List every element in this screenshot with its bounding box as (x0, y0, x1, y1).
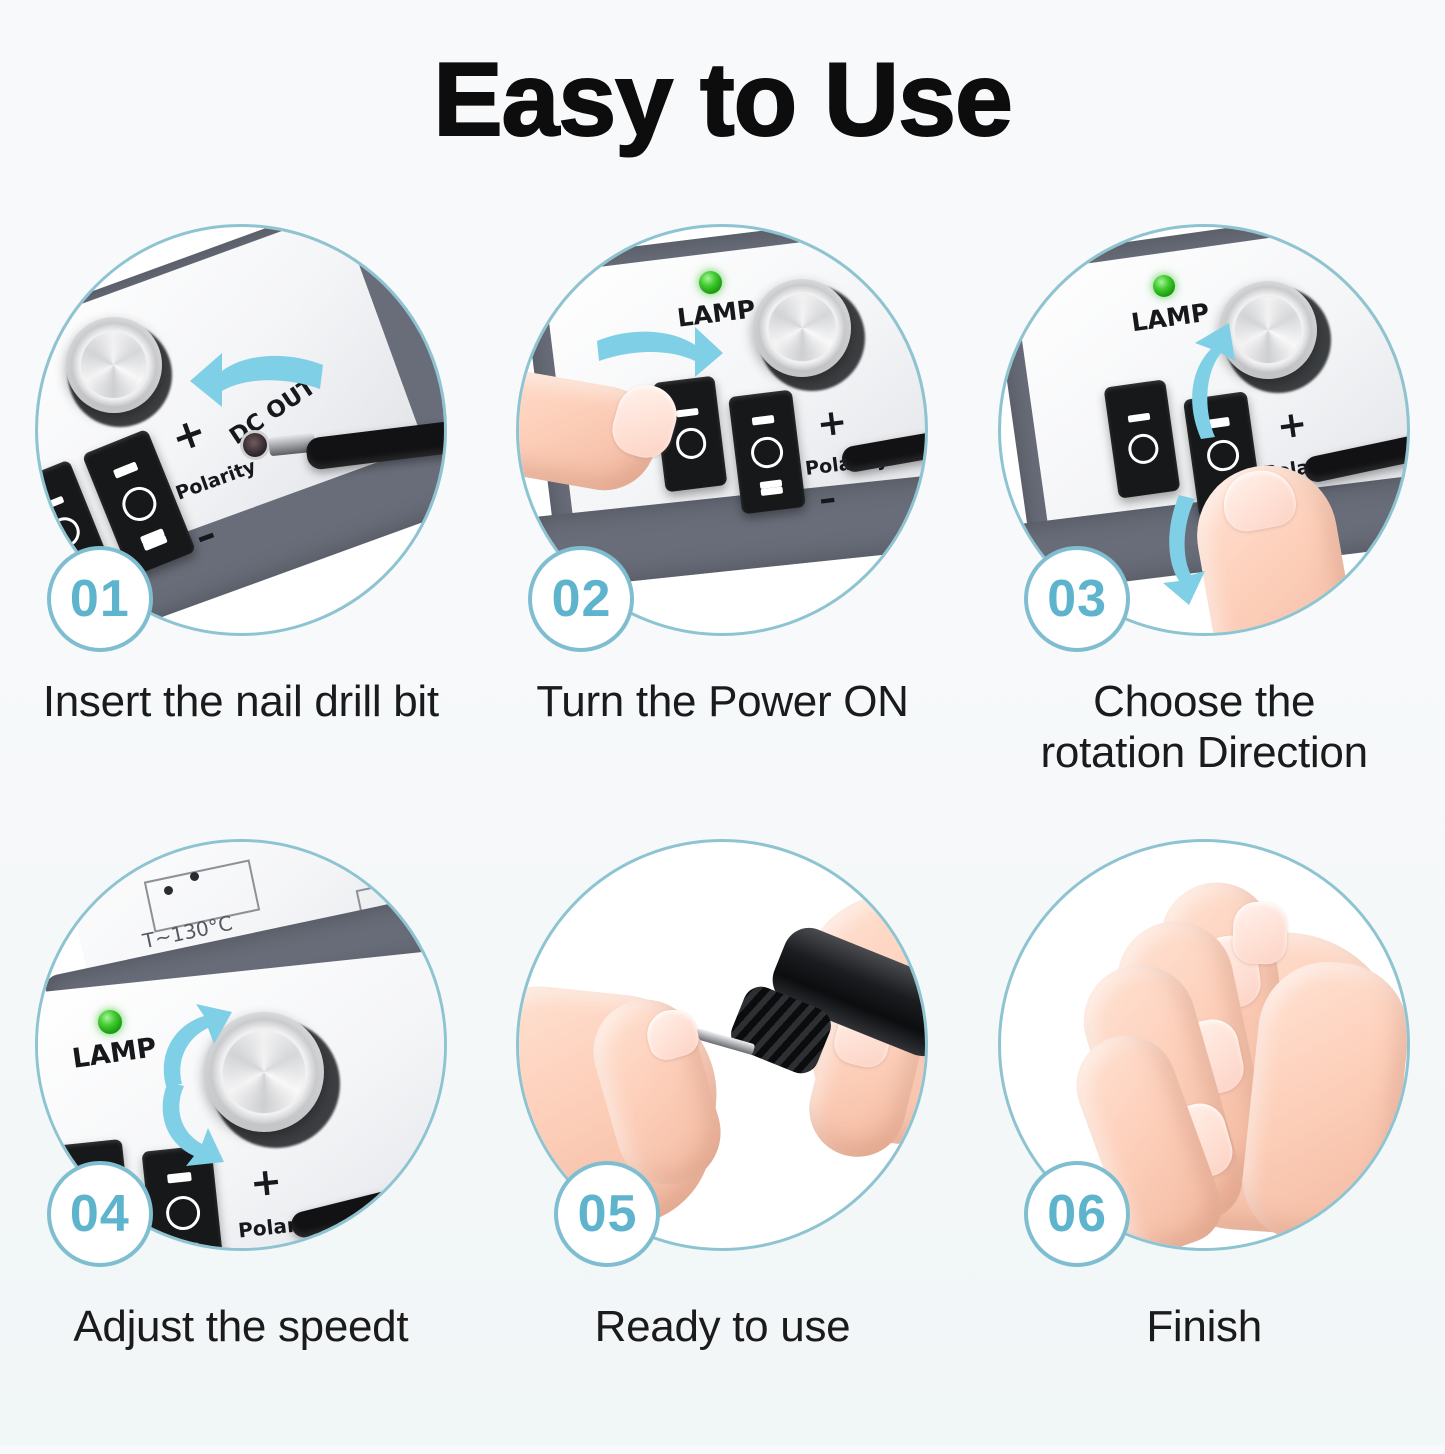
step-badge-03: 03 (1024, 546, 1130, 652)
switch-on-mark (113, 461, 139, 478)
direction-arrow-down-icon (1149, 495, 1219, 607)
press-arrow-right-icon (595, 319, 725, 391)
diagram-dot (164, 886, 173, 895)
speed-knob[interactable] (66, 317, 162, 413)
caption-line-1: Insert the nail drill bit (0, 676, 482, 727)
diagram-dot (190, 872, 199, 881)
switch-on-mark (42, 495, 64, 510)
rotate-arrow-down-icon (150, 1078, 228, 1168)
switch-off-mark (675, 427, 709, 461)
insert-arrow-left-icon (188, 345, 328, 425)
speed-knob[interactable] (753, 279, 851, 377)
switch-double-mark (174, 1242, 198, 1251)
dc-out-jack (243, 433, 267, 457)
step-card-02: LAMP + Polarity (482, 224, 964, 839)
switch-off-mark (117, 481, 161, 525)
step-caption-04: Adjust the speedt (0, 1301, 482, 1352)
caption-line-1: Finish (963, 1301, 1445, 1352)
step-badge-01: 01 (47, 546, 153, 652)
lamp-led (1153, 275, 1175, 297)
switch-on-mark (1128, 412, 1150, 423)
switch-on-mark (167, 1172, 192, 1183)
direction-arrow-up-icon (1177, 321, 1249, 441)
switch-on-mark (677, 408, 699, 418)
step-badge-06: 06 (1024, 1161, 1130, 1267)
step-card-01: + Polarity – DC OUT 01 (0, 224, 482, 839)
page-title: Easy to Use (0, 46, 1445, 155)
switch-off-mark (1126, 432, 1161, 467)
lamp-led (699, 271, 722, 294)
switch-double-mark (140, 528, 165, 544)
switch-off-mark (750, 435, 785, 470)
step-image-wrap-04: T~130°C INDOOR LAMP (35, 839, 447, 1251)
step-badge-02: 02 (528, 546, 634, 652)
caption-line-1: Adjust the speedt (0, 1301, 482, 1352)
switch-on-mark (752, 415, 775, 426)
caption-line-1: Turn the Power ON (482, 676, 964, 727)
lamp-led (98, 1010, 122, 1034)
step-image-wrap-05: 05 (516, 839, 928, 1251)
steps-grid: + Polarity – DC OUT 01 (0, 224, 1445, 1454)
step-caption-05: Ready to use (482, 1301, 964, 1352)
step-card-03: LAMP + Polarity (963, 224, 1445, 839)
step-badge-05: 05 (554, 1161, 660, 1267)
polarity-plus-label: + (815, 401, 850, 445)
polarity-plus-label: + (248, 1158, 284, 1205)
step-image-wrap-01: + Polarity – DC OUT 01 (35, 224, 447, 636)
nail-thumb (1232, 901, 1288, 965)
caption-line-2: rotation Direction (963, 727, 1445, 778)
step-card-04: T~130°C INDOOR LAMP (0, 839, 482, 1454)
step-image-wrap-02: LAMP + Polarity (516, 224, 928, 636)
step-caption-02: Turn the Power ON (482, 676, 964, 727)
switch-off-mark (45, 512, 85, 552)
step-caption-01: Insert the nail drill bit (0, 676, 482, 727)
switch-off-mark (164, 1194, 201, 1231)
polarity-plus-label: + (1274, 403, 1310, 448)
step-badge-04: 04 (47, 1161, 153, 1267)
switch-off-mark (1205, 438, 1241, 474)
caption-line-1: Choose the (963, 676, 1445, 727)
step-image-wrap-03: LAMP + Polarity (998, 224, 1410, 636)
step-caption-03: Choose the rotation Direction (963, 676, 1445, 778)
caption-line-1: Ready to use (482, 1301, 964, 1352)
step-card-06: 06 Finish (963, 839, 1445, 1454)
switch-double-mark (760, 480, 782, 490)
step-caption-06: Finish (963, 1301, 1445, 1352)
step-card-05: 05 Ready to use (482, 839, 964, 1454)
step-image-wrap-06: 06 (998, 839, 1410, 1251)
